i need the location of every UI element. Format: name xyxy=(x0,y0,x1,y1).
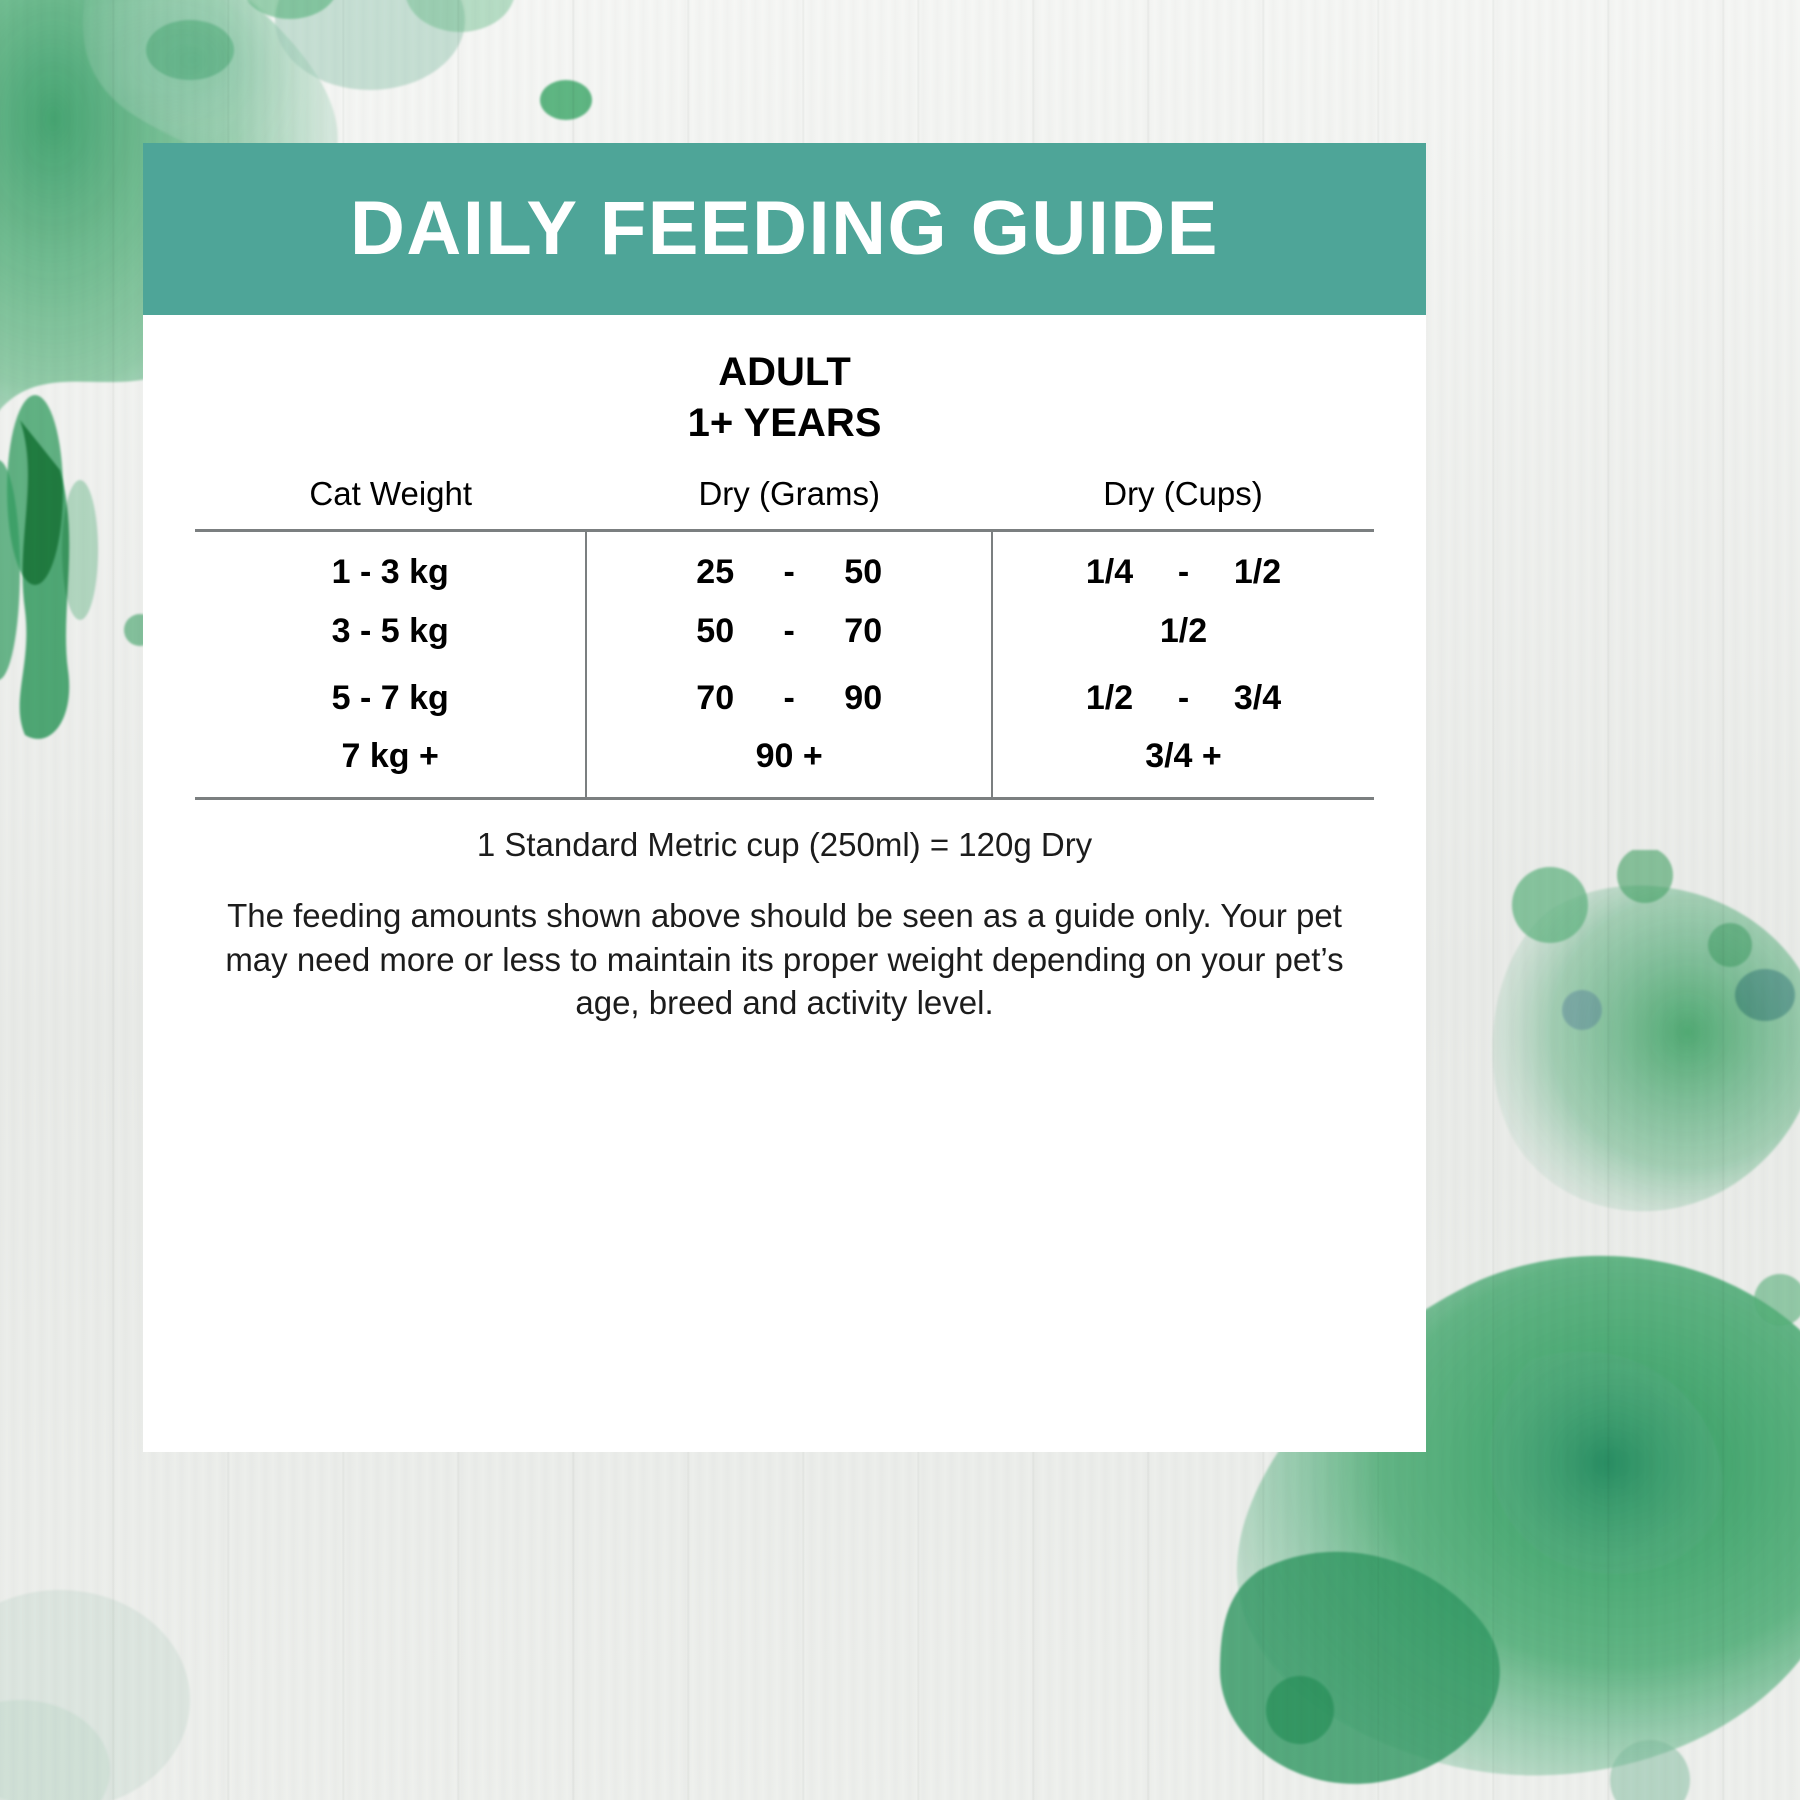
watercolor-dot-right xyxy=(1730,960,1800,1030)
feeding-table-head: Cat Weight Dry (Grams) Dry (Cups) xyxy=(195,475,1374,531)
table-row: 5 - 7 kg 70 - 90 1/2 - 3/4 xyxy=(195,665,1374,732)
cell-dry-cups: 1/2 xyxy=(992,598,1374,665)
cups-to: 1/2 xyxy=(1214,553,1300,592)
feeding-table-body: 1 - 3 kg 25 - 50 1/4 - 1/2 xyxy=(195,531,1374,799)
watercolor-drip-left xyxy=(0,420,160,740)
feeding-table: Cat Weight Dry (Grams) Dry (Cups) 1 - 3 … xyxy=(195,475,1374,800)
cups-from: 1/2 xyxy=(1066,679,1152,718)
grams-single: 90 + xyxy=(587,737,991,776)
life-stage-age: 1+ YEARS xyxy=(195,398,1374,449)
grams-range: 70 - 90 xyxy=(587,679,991,718)
watercolor-splash-right-middle xyxy=(1430,850,1800,1270)
feeding-disclaimer: The feeding amounts shown above should b… xyxy=(195,894,1374,1025)
cups-dash: - xyxy=(1152,679,1214,718)
cups-to: 3/4 xyxy=(1214,679,1300,718)
cups-from: 1/4 xyxy=(1066,553,1152,592)
cups-range: 1/4 - 1/2 xyxy=(993,553,1374,592)
grams-dash: - xyxy=(758,679,820,718)
cell-dry-cups: 3/4 + xyxy=(992,732,1374,799)
column-header-cat-weight: Cat Weight xyxy=(195,475,586,531)
grams-to: 50 xyxy=(820,553,906,592)
grams-from: 25 xyxy=(672,553,758,592)
cup-conversion-note: 1 Standard Metric cup (250ml) = 120g Dry xyxy=(195,826,1374,864)
grams-range: 50 - 70 xyxy=(587,612,991,651)
cups-single: 3/4 + xyxy=(993,737,1374,776)
grams-to: 70 xyxy=(820,612,906,651)
column-header-dry-cups: Dry (Cups) xyxy=(992,475,1374,531)
cups-range: 1/2 - 3/4 xyxy=(993,679,1374,718)
feeding-guide-card: DAILY FEEDING GUIDE ADULT 1+ YEARS Cat W… xyxy=(143,143,1426,1452)
grams-from: 50 xyxy=(672,612,758,651)
card-header: DAILY FEEDING GUIDE xyxy=(143,143,1426,315)
cell-dry-grams: 25 - 50 xyxy=(586,531,992,598)
cups-dash: - xyxy=(1152,553,1214,592)
watercolor-splash-bottom-left xyxy=(0,1520,300,1800)
grams-dash: - xyxy=(758,553,820,592)
cell-dry-grams: 90 + xyxy=(586,732,992,799)
table-row: 7 kg + 90 + 3/4 + xyxy=(195,732,1374,799)
cell-dry-cups: 1/4 - 1/2 xyxy=(992,531,1374,598)
grams-to: 90 xyxy=(820,679,906,718)
grams-from: 70 xyxy=(672,679,758,718)
grams-dash: - xyxy=(758,612,820,651)
card-body: ADULT 1+ YEARS Cat Weight Dry (Grams) Dr… xyxy=(143,315,1426,1025)
life-stage-name: ADULT xyxy=(195,347,1374,398)
cell-dry-cups: 1/2 - 3/4 xyxy=(992,665,1374,732)
cell-dry-grams: 50 - 70 xyxy=(586,598,992,665)
cell-cat-weight: 1 - 3 kg xyxy=(195,531,586,598)
cell-cat-weight: 5 - 7 kg xyxy=(195,665,586,732)
table-row: 1 - 3 kg 25 - 50 1/4 - 1/2 xyxy=(195,531,1374,598)
cups-single: 1/2 xyxy=(993,612,1374,651)
cell-cat-weight: 7 kg + xyxy=(195,732,586,799)
watercolor-dot-top xyxy=(536,70,596,130)
cell-dry-grams: 70 - 90 xyxy=(586,665,992,732)
table-row: 3 - 5 kg 50 - 70 1/2 xyxy=(195,598,1374,665)
column-header-dry-grams: Dry (Grams) xyxy=(586,475,992,531)
grams-range: 25 - 50 xyxy=(587,553,991,592)
cell-cat-weight: 3 - 5 kg xyxy=(195,598,586,665)
table-header-row: Cat Weight Dry (Grams) Dry (Cups) xyxy=(195,475,1374,531)
page-title: DAILY FEEDING GUIDE xyxy=(350,191,1219,267)
